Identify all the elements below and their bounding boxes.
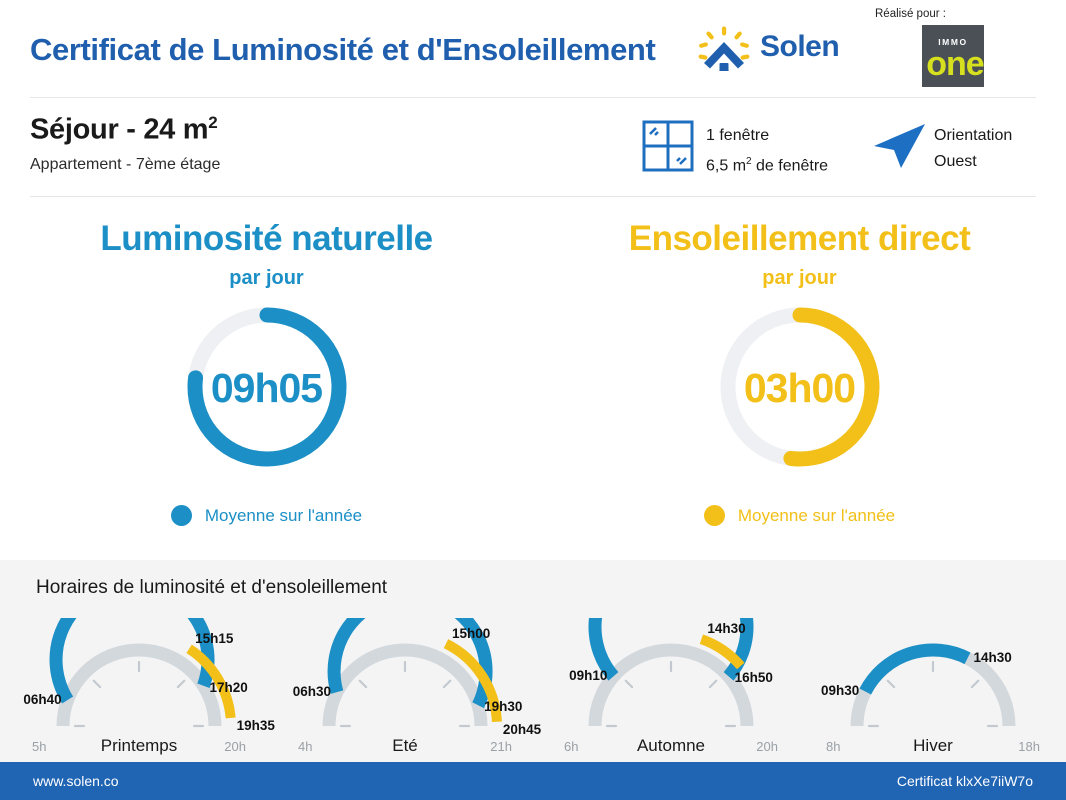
room-name-sup: 2 [208, 113, 217, 132]
donut-panel-luminosite: Luminosité naturelle par jour 09h05 Moye… [0, 197, 533, 560]
gauge-axis-min: 6h [564, 739, 578, 754]
compass-arrow-icon [868, 122, 928, 170]
averages-section: Luminosité naturelle par jour 09h05 Moye… [0, 197, 1066, 560]
window-icon [642, 120, 694, 172]
gauge-value-label: 06h30 [293, 684, 331, 699]
gauge-axis-min: 5h [32, 739, 46, 754]
donut-title-luminosite: Luminosité naturelle [0, 219, 533, 259]
page-title: Certificat de Luminosité et d'Ensoleille… [30, 32, 655, 68]
donut-subtitle-ensoleillement: par jour [533, 267, 1066, 290]
legend-dot-icon [704, 505, 725, 526]
donut-title-ensoleillement: Ensoleillement direct [533, 219, 1066, 259]
gauge-arc [800, 618, 1066, 738]
gauge-value-label: 15h15 [195, 631, 233, 646]
brand-name: Solen [760, 30, 839, 64]
gauge-axis-max: 18h [1018, 739, 1040, 754]
gauge-value-label: 09h10 [569, 668, 607, 683]
window-area-suffix: de fenêtre [752, 157, 829, 174]
certificate-page: Certificat de Luminosité et d'Ensoleille… [0, 0, 1066, 800]
gauge-ete: Eté 4h 21h 06h3015h0019h3020h45 [272, 618, 538, 758]
gauge-axis-max: 21h [490, 739, 512, 754]
seasons-title: Horaires de luminosité et d'ensoleilleme… [36, 577, 387, 599]
room-subtitle: Appartement - 7ème étage [30, 156, 220, 174]
realise-pour-label: Réalisé pour : [875, 8, 946, 20]
legend-label: Moyenne sur l'année [205, 506, 362, 526]
window-info: 1 fenêtre 6,5 m2 de fenêtre [706, 123, 828, 179]
header: Certificat de Luminosité et d'Ensoleille… [0, 0, 1066, 97]
gauge-axis-min: 4h [298, 739, 312, 754]
client-logo: IMMO one [922, 25, 984, 87]
window-count: 1 fenêtre [706, 123, 828, 149]
solen-logo: Solen [698, 26, 858, 76]
donut-panel-ensoleillement: Ensoleillement direct par jour 03h00 Moy… [533, 197, 1066, 560]
orientation-value: Ouest [934, 149, 1012, 175]
donut-value-luminosite: 09h05 [0, 365, 533, 412]
gauge-value-label: 19h30 [484, 699, 522, 714]
gauge-axis-max: 20h [224, 739, 246, 754]
gauge-value-label: 20h45 [503, 722, 541, 737]
footer-certificate-id: Certificat klxXe7iiW7o [897, 773, 1033, 789]
donut-legend-luminosite: Moyenne sur l'année [0, 505, 533, 526]
gauge-value-label: 14h30 [974, 650, 1012, 665]
donut-value-ensoleillement: 03h00 [533, 365, 1066, 412]
donut-legend-ensoleillement: Moyenne sur l'année [533, 505, 1066, 526]
room-info-bar: Séjour - 24 m2 Appartement - 7ème étage … [0, 98, 1066, 196]
gauge-value-label: 17h20 [209, 680, 247, 695]
room-title: Séjour - 24 m2 [30, 113, 217, 147]
window-area-value: 6,5 m [706, 157, 746, 174]
gauge-value-label: 19h35 [237, 718, 275, 733]
orientation-label: Orientation [934, 123, 1012, 149]
gauge-value-label: 16h50 [735, 670, 773, 685]
seasons-section: Horaires de luminosité et d'ensoleilleme… [0, 560, 1066, 762]
gauge-hiver: Hiver 8h 18h 09h3014h30 [800, 618, 1066, 758]
gauge-value-label: 14h30 [707, 621, 745, 636]
footer-website[interactable]: www.solen.co [33, 773, 119, 789]
donut-subtitle-luminosite: par jour [0, 267, 533, 290]
gauge-automne: Automne 6h 20h 09h1014h3016h50 [538, 618, 804, 758]
gauge-printemps: Printemps 5h 20h 06h4015h1517h2019h35 [6, 618, 272, 758]
orientation-info: Orientation Ouest [934, 123, 1012, 175]
sun-house-icon [698, 26, 750, 76]
client-logo-one: one [918, 47, 992, 81]
gauge-axis-min: 8h [826, 739, 840, 754]
gauge-arc [272, 618, 538, 738]
gauge-value-label: 09h30 [821, 683, 859, 698]
footer: www.solen.co Certificat klxXe7iiW7o [0, 762, 1066, 800]
legend-label: Moyenne sur l'année [738, 506, 895, 526]
gauge-axis-max: 20h [756, 739, 778, 754]
legend-dot-icon [171, 505, 192, 526]
room-name: Séjour - 24 m [30, 114, 208, 146]
window-area: 6,5 m2 de fenêtre [706, 149, 828, 179]
gauge-value-label: 15h00 [452, 626, 490, 641]
gauge-value-label: 06h40 [23, 692, 61, 707]
